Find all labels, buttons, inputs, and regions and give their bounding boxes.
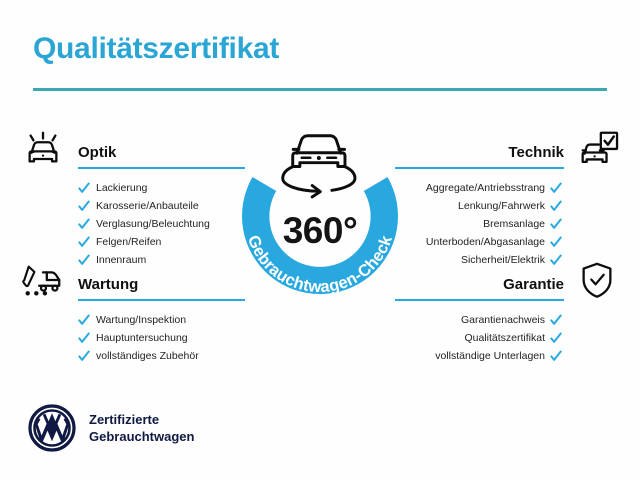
section-garantie: Garantie Garantienachweis Qualitätszerti…	[395, 258, 620, 365]
list-item: vollständige Unterlagen	[395, 347, 562, 365]
list-item-label: vollständiges Zubehör	[96, 348, 199, 364]
section-underline	[78, 167, 245, 169]
footer-line-1: Zertifizierte	[89, 411, 194, 428]
list-item: Garantienachweis	[395, 311, 562, 329]
check-icon	[78, 350, 90, 362]
checklist-optik: Lackierung Karosserie/Anbauteile Verglas…	[20, 179, 245, 269]
check-icon	[550, 200, 562, 212]
list-item-label: Unterboden/Abgasanlage	[426, 234, 545, 250]
list-item-label: Hauptuntersuchung	[96, 330, 188, 346]
section-underline	[395, 167, 564, 169]
list-item: Bremsanlage	[395, 215, 562, 233]
section-wartung: Wartung Wartung/Inspektion Hauptuntersuc…	[20, 258, 245, 365]
checklist-technik: Aggregate/Antriebsstrang Lenkung/Fahrwer…	[395, 179, 620, 269]
list-item-label: Felgen/Reifen	[96, 234, 161, 250]
footer-brand-text: Zertifizierte Gebrauchtwagen	[89, 411, 194, 445]
list-item: Karosserie/Anbauteile	[78, 197, 245, 215]
certificate-page: Qualitätszertifikat Optik	[0, 0, 640, 480]
section-underline	[395, 299, 564, 301]
check-icon	[78, 332, 90, 344]
list-item: Verglasung/Beleuchtung	[78, 215, 245, 233]
list-item: Qualitätszertifikat	[395, 329, 562, 347]
section-title-wrap: Optik	[66, 127, 245, 169]
ring-arc	[242, 177, 398, 294]
list-item-label: Bremsanlage	[483, 216, 545, 232]
section-technik: Technik Aggregate/Antriebsstrang Lenkung…	[395, 126, 620, 269]
page-title: Qualitätszertifikat	[33, 32, 279, 66]
check-icon	[78, 236, 90, 248]
checklist-wartung: Wartung/Inspektion Hauptuntersuchung vol…	[20, 311, 245, 365]
check-icon	[550, 218, 562, 230]
list-item-label: Verglasung/Beleuchtung	[96, 216, 210, 232]
check-icon	[550, 182, 562, 194]
section-header: Optik	[20, 126, 245, 170]
badge-ring-svg: Gebrauchtwagen-Check	[222, 113, 418, 313]
list-item: Unterboden/Abgasanlage	[395, 233, 562, 251]
list-item-label: Qualitätszertifikat	[464, 330, 545, 346]
section-title: Technik	[508, 144, 564, 162]
car-shine-icon	[20, 127, 66, 169]
footer-brand: Zertifizierte Gebrauchtwagen	[28, 404, 194, 452]
check-icon	[550, 236, 562, 248]
list-item-label: Aggregate/Antriebsstrang	[426, 180, 545, 196]
section-title-wrap: Technik	[395, 127, 574, 169]
check-icon	[78, 314, 90, 326]
check-icon	[78, 218, 90, 230]
section-title: Optik	[78, 144, 245, 162]
check-icon	[550, 332, 562, 344]
list-item: Lackierung	[78, 179, 245, 197]
list-item: Lenkung/Fahrwerk	[395, 197, 562, 215]
list-item: Hauptuntersuchung	[78, 329, 245, 347]
section-title: Garantie	[503, 276, 564, 294]
section-underline	[78, 299, 245, 301]
section-title-wrap: Wartung	[66, 259, 245, 301]
check-icon	[78, 182, 90, 194]
footer-line-2: Gebrauchtwagen	[89, 428, 194, 445]
section-header: Technik	[395, 126, 620, 170]
list-item: Felgen/Reifen	[78, 233, 245, 251]
check-icon	[550, 350, 562, 362]
check-icon	[78, 200, 90, 212]
car-checkbox-icon	[574, 127, 620, 169]
list-item-label: Karosserie/Anbauteile	[96, 198, 199, 214]
car-front-rotate-icon	[283, 136, 355, 197]
section-header: Garantie	[395, 258, 620, 302]
list-item: vollständiges Zubehör	[78, 347, 245, 365]
volkswagen-logo	[28, 404, 76, 452]
badge-360-gebrauchtwagen-check: Gebrauchtwagen-Check 360°	[222, 113, 418, 313]
list-item-label: Lenkung/Fahrwerk	[458, 198, 545, 214]
section-title-wrap: Garantie	[395, 259, 574, 301]
checklist-garantie: Garantienachweis Qualitätszertifikat vol…	[395, 311, 620, 365]
list-item: Wartung/Inspektion	[78, 311, 245, 329]
section-optik: Optik Lackierung Karosserie/Anbauteile	[20, 126, 245, 269]
list-item-label: Lackierung	[96, 180, 147, 196]
car-service-pen-icon	[20, 259, 66, 301]
shield-check-icon	[574, 259, 620, 301]
section-header: Wartung	[20, 258, 245, 302]
title-divider	[33, 88, 607, 91]
list-item-label: Wartung/Inspektion	[96, 312, 186, 328]
list-item-label: vollständige Unterlagen	[435, 348, 545, 364]
check-icon	[550, 314, 562, 326]
section-title: Wartung	[78, 276, 245, 294]
list-item: Aggregate/Antriebsstrang	[395, 179, 562, 197]
list-item-label: Garantienachweis	[461, 312, 545, 328]
